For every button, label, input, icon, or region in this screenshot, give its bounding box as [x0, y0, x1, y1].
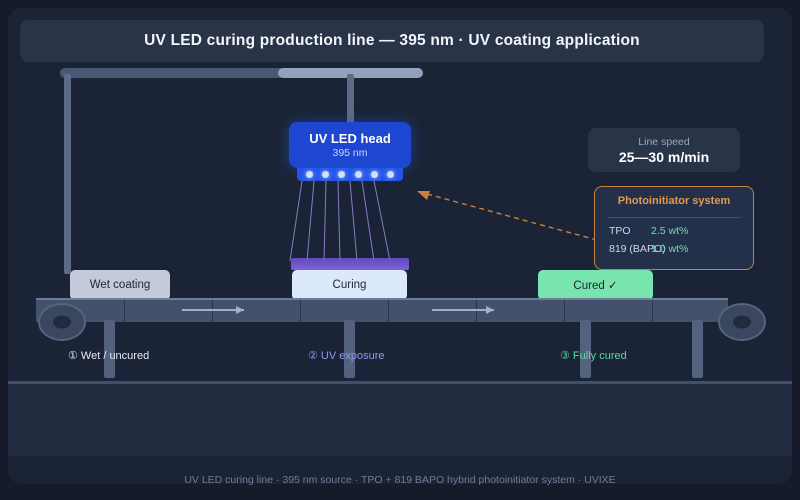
workpiece-cured-label: Cured ✓ — [573, 278, 617, 292]
led-dot-icon — [306, 171, 313, 178]
photoinitiator-panel: Photoinitiator system TPO 2.5 wt% 819 (B… — [594, 186, 754, 270]
workpiece-curing-label: Curing — [333, 279, 367, 291]
conveyor-leg — [692, 320, 703, 378]
belt-direction-arrow-icon — [432, 306, 494, 314]
title-bar: UV LED curing production line — 395 nm ·… — [20, 20, 764, 62]
stage-caption-uv-exposure: ② UV exposure — [308, 349, 385, 362]
gantry-rail-rear — [60, 68, 285, 78]
led-dot-icon — [322, 171, 329, 178]
uv-led-head-title: UV LED head — [309, 131, 391, 146]
roller-hub — [733, 316, 751, 329]
conveyor-roller-left — [38, 303, 86, 341]
line-speed-label: Line speed — [638, 135, 689, 149]
line-speed-value: 25—30 m/min — [619, 149, 709, 166]
photoinitiator-divider — [607, 217, 741, 218]
belt-seam — [564, 300, 565, 322]
page-title: UV LED curing production line — 395 nm ·… — [144, 32, 640, 50]
belt-seam — [124, 300, 125, 322]
gantry-post-left — [64, 74, 71, 274]
uv-ray-bundle-icon — [280, 181, 420, 261]
conveyor-roller-right — [718, 303, 766, 341]
stage-caption-fully-cured: ③ Fully cured — [560, 349, 627, 362]
footer-caption: UV LED curing line · 395 nm source · TPO… — [0, 474, 800, 486]
floor-panel — [8, 381, 792, 456]
uv-led-head-wavelength: 395 nm — [332, 146, 367, 160]
photoinitiator-row: 819 (BAPO) 1.0 wt% — [609, 243, 743, 259]
photoinitiator-row: TPO 2.5 wt% — [609, 225, 743, 241]
diagram-canvas: UV LED curing production line — 395 nm ·… — [0, 0, 800, 500]
workpiece-cured: Cured ✓ — [538, 270, 653, 300]
belt-seam — [388, 300, 389, 322]
stage-caption-wet: ① Wet / uncured — [68, 349, 149, 362]
uv-exposure-glow — [291, 258, 409, 270]
photoinitiator-title: Photoinitiator system — [595, 195, 753, 207]
uv-led-head[interactable]: UV LED head 395 nm — [289, 122, 411, 168]
belt-seam — [300, 300, 301, 322]
led-dot-icon — [371, 171, 378, 178]
gantry-post-center — [347, 74, 354, 124]
belt-seam — [652, 300, 653, 322]
belt-direction-arrow-icon — [182, 306, 244, 314]
workpiece-curing: Curing — [292, 270, 407, 300]
workpiece-wet-coating: Wet coating — [70, 270, 170, 300]
photoinitiator-value: 2.5 wt% — [651, 225, 688, 237]
led-dot-icon — [338, 171, 345, 178]
roller-hub — [53, 316, 71, 329]
photoinitiator-name: TPO — [609, 225, 631, 237]
led-dot-icon — [387, 171, 394, 178]
led-emitter-bar — [297, 168, 403, 181]
conveyor-belt — [36, 298, 728, 322]
workpiece-wet-coating-label: Wet coating — [90, 279, 151, 291]
photoinitiator-callout-arrow-icon — [415, 188, 600, 244]
line-speed-panel: Line speed 25—30 m/min — [588, 128, 740, 172]
photoinitiator-value: 1.0 wt% — [651, 243, 688, 255]
led-dot-icon — [355, 171, 362, 178]
